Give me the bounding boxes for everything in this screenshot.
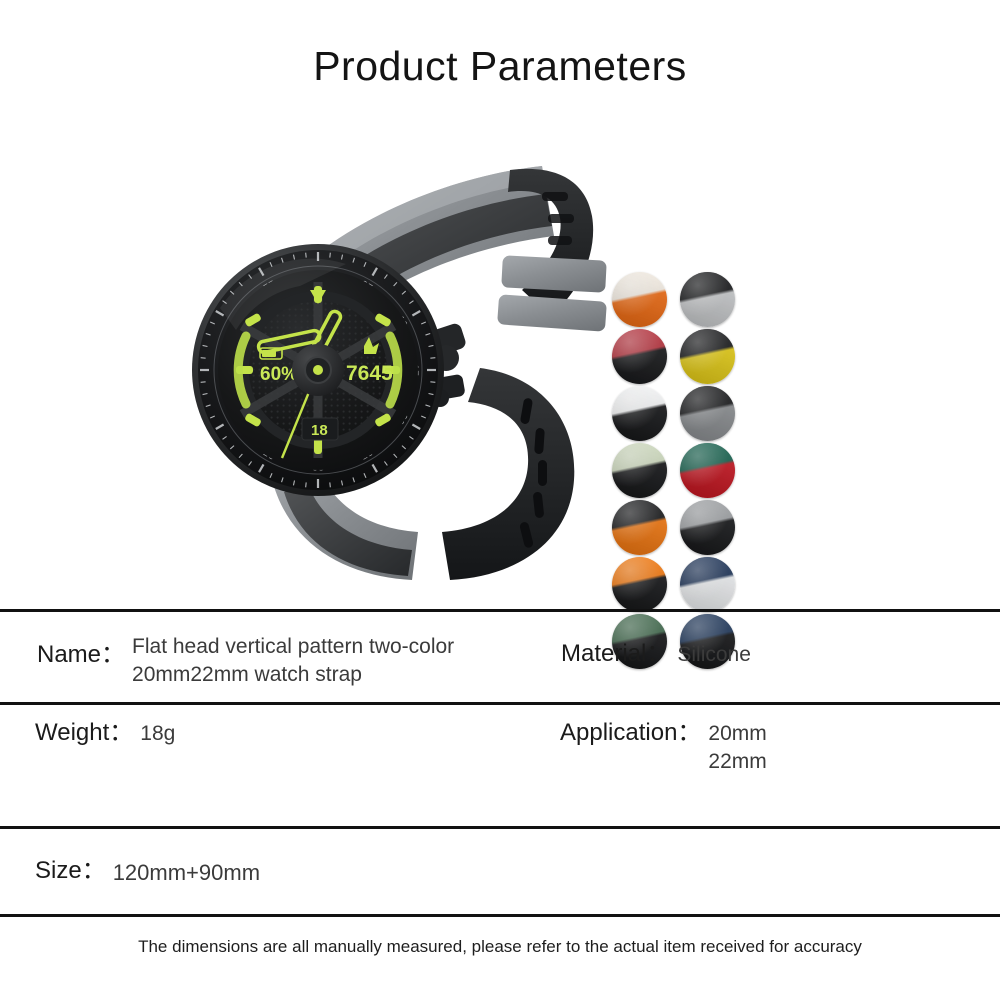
spec-value-name: Flat head vertical pattern two-color 20m… [132, 633, 454, 688]
swatch-white-black[interactable] [612, 386, 667, 441]
spec-value-application-line2: 22mm [708, 748, 766, 776]
spec-value-application-line1: 20mm [708, 720, 766, 748]
spec-value-application: 20mm 22mm [708, 720, 766, 775]
spec-row-weight: Weight： 18g [35, 720, 175, 748]
swatch-black-orange[interactable] [612, 500, 667, 555]
swatch-navy-white[interactable] [680, 557, 735, 612]
swatch-cream-orange[interactable] [612, 272, 667, 327]
spec-label-weight: Weight： [35, 720, 133, 747]
swatch-gloss [612, 443, 667, 498]
swatch-black-yellow[interactable] [680, 329, 735, 384]
swatch-red-black[interactable] [612, 329, 667, 384]
swatch-gloss [680, 272, 735, 327]
spec-label-application: Application： [560, 720, 701, 747]
spec-value-size: 120mm+90mm [113, 858, 260, 887]
spec-row-application: Application： 20mm 22mm [560, 720, 767, 775]
swatch-black-grey[interactable] [680, 386, 735, 441]
swatch-gloss [680, 386, 735, 441]
swatch-green-red[interactable] [680, 443, 735, 498]
table-divider-2 [0, 826, 1000, 829]
product-parameters-page: Product Parameters [0, 0, 1000, 1000]
swatch-gloss [612, 386, 667, 441]
swatch-gloss [680, 329, 735, 384]
watch-illustration: 0510152025303555 [150, 140, 620, 580]
spec-label-size: Size： [35, 858, 106, 885]
spec-label-name: Name： [37, 633, 125, 669]
spec-value-weight: 18g [140, 720, 175, 748]
steps-count-text: 7645 [346, 362, 393, 385]
date-text: 18 [311, 422, 328, 439]
smartwatch-with-strap-image: 0510152025303555 [150, 140, 620, 580]
swatch-gloss [680, 500, 735, 555]
product-image-region: 0510152025303555 [0, 120, 1000, 590]
spec-row-material: Material： Silicone [561, 641, 751, 669]
measurement-disclaimer: The dimensions are all manually measured… [0, 937, 1000, 957]
table-divider-top [0, 609, 1000, 612]
spec-label-material: Material： [561, 641, 670, 668]
swatch-grey-black[interactable] [680, 500, 735, 555]
lower-strap [442, 368, 574, 580]
swatch-gloss [612, 272, 667, 327]
page-title: Product Parameters [0, 43, 1000, 90]
spec-value-material: Silicone [677, 641, 751, 669]
table-divider-3 [0, 914, 1000, 917]
table-divider-1 [0, 702, 1000, 705]
spec-value-name-line1: Flat head vertical pattern two-color [132, 633, 454, 661]
watch-case: 0510152025303555 [192, 244, 467, 496]
swatch-gloss [680, 443, 735, 498]
spec-value-name-line2: 20mm22mm watch strap [132, 661, 454, 689]
swatch-gloss [612, 557, 667, 612]
swatch-gloss [612, 329, 667, 384]
swatch-sage-black[interactable] [612, 443, 667, 498]
swatch-gloss [680, 557, 735, 612]
swatch-black-silver[interactable] [680, 272, 735, 327]
spec-row-name: Name： Flat head vertical pattern two-col… [37, 633, 537, 688]
swatch-orange-black[interactable] [612, 557, 667, 612]
swatch-gloss [612, 500, 667, 555]
spec-row-size: Size： 120mm+90mm [35, 858, 260, 887]
